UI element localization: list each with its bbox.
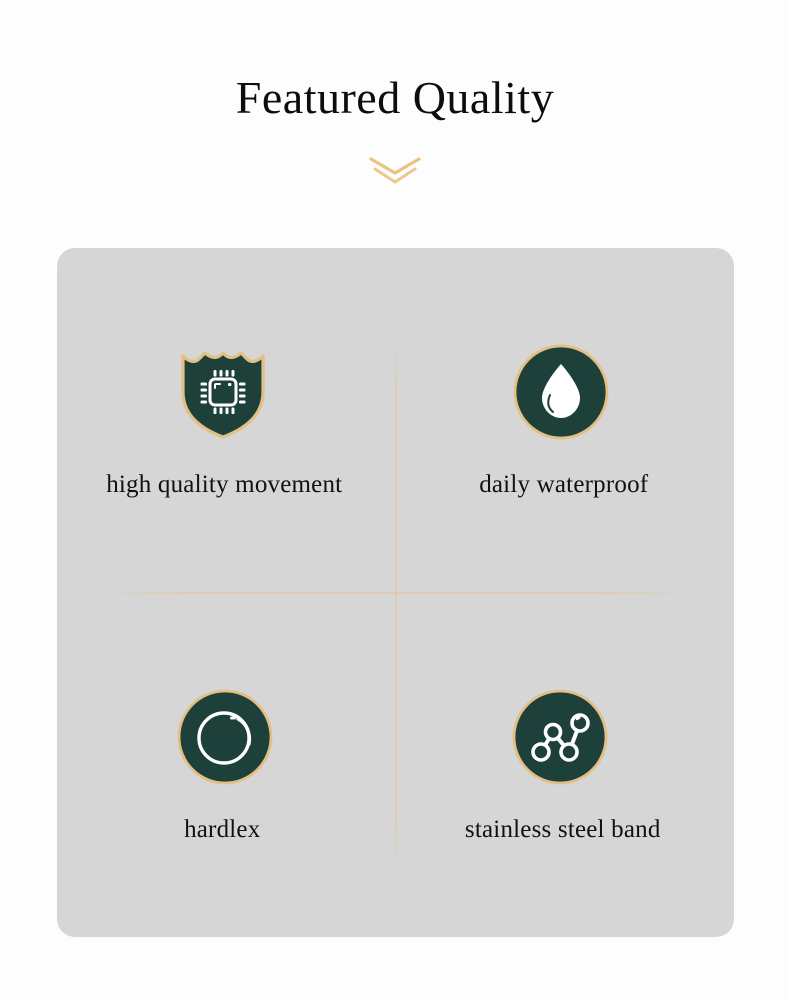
page-header: Featured Quality (0, 0, 790, 187)
features-card: high quality movement daily waterproof (57, 248, 734, 937)
features-grid: high quality movement daily waterproof (57, 248, 734, 937)
feature-item-hardlex[interactable]: hardlex (57, 593, 396, 938)
glass-ring-icon (173, 685, 277, 789)
link-nodes-icon (508, 685, 612, 789)
feature-item-stainless-steel-band[interactable]: stainless steel band (396, 593, 735, 938)
feature-item-high-quality-movement[interactable]: high quality movement (57, 248, 396, 593)
feature-label-hardlex: hardlex (184, 815, 260, 845)
featured-quality-page: Featured Quality (0, 0, 790, 1000)
page-title: Featured Quality (0, 70, 790, 125)
feature-label-stainless-steel-band: stainless steel band (465, 815, 661, 845)
water-drop-icon (509, 340, 613, 444)
double-chevron-down-icon (365, 153, 425, 187)
feature-item-daily-waterproof[interactable]: daily waterproof (396, 248, 735, 593)
feature-label-high-quality-movement: high quality movement (106, 470, 342, 500)
shield-cpu-icon (171, 340, 275, 444)
feature-label-daily-waterproof: daily waterproof (479, 470, 648, 500)
